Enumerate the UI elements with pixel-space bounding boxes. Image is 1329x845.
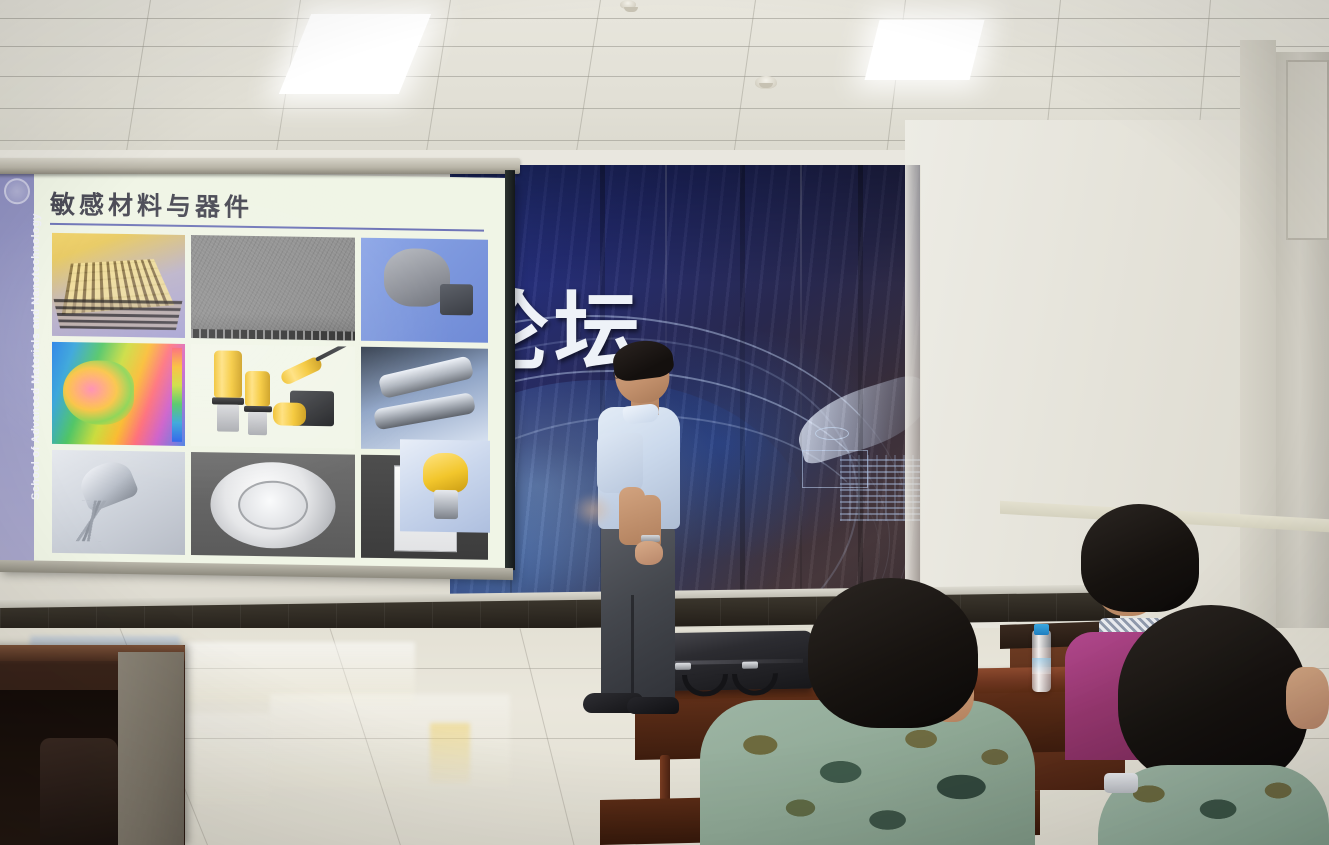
presenter-hand: [635, 541, 663, 565]
sensor-cable: [315, 344, 352, 362]
presenter-sleeve: [597, 433, 643, 493]
audience-hair: [1081, 504, 1199, 612]
ceiling-light-right: [865, 20, 985, 80]
banner-shadow: [450, 165, 920, 285]
slide-image-smoke-detector: [191, 452, 356, 557]
ceiling-grid-line: [123, 0, 151, 173]
slide-image-sem: [191, 235, 356, 340]
presenter-leg-seam: [631, 595, 634, 705]
briefcase-clasp: [742, 662, 758, 669]
audience-dark-hair: [1118, 605, 1329, 845]
ceiling-tile-line: [0, 76, 1329, 77]
ceiling-grid-line: [573, 0, 601, 173]
ceiling-tile-line: [0, 18, 1329, 19]
sensor-cylinder: [214, 350, 242, 398]
ceiling-smoke-detector-icon: [620, 0, 636, 9]
presenter-shoe: [627, 697, 679, 714]
slide-image-connectors: [361, 346, 488, 451]
sensor-base: [217, 405, 238, 432]
slide-image-gas-detector: [400, 439, 490, 532]
presenter-hand-motion-blur: [573, 493, 613, 527]
presenter: [575, 345, 700, 755]
floor-reflection: [430, 723, 470, 783]
podium-side-panel: [118, 652, 184, 845]
audience-bracelet: [1104, 773, 1138, 793]
ceiling-tile-line: [0, 108, 1329, 109]
slide-sidebar-label: School of Advanced Materials and Nanotec…: [30, 207, 42, 507]
ceiling-smoke-detector-icon: [755, 76, 777, 89]
sensor-base: [248, 412, 266, 435]
banner-ellipse-graphic: [815, 427, 849, 440]
slide-image-yellow-sensors: [191, 344, 356, 449]
floor-reflection: [270, 694, 510, 789]
slide-title-rule: [50, 223, 484, 232]
audience-camo-hair: [808, 578, 978, 728]
slide-image-thermal: [52, 342, 185, 447]
slide-title: 敏感材料与器件: [50, 185, 253, 224]
projection-screen-housing: [0, 158, 520, 174]
water-bottle-label: [1032, 658, 1051, 674]
ceiling-tile-line: [0, 46, 1329, 47]
door-panel[interactable]: [1286, 60, 1329, 240]
slide-sidebar: School of Advanced Materials and Nanotec…: [0, 170, 34, 571]
sensor-cylinder: [245, 371, 270, 406]
lecture-hall-scene: 论坛 School of Advanced Materials and Nano…: [0, 0, 1329, 845]
ceiling-grid-line: [423, 0, 451, 173]
audience-face: [1286, 667, 1329, 729]
sensor-cylinder: [273, 402, 306, 425]
slide-image-blue-sensor: [361, 238, 488, 343]
audience-hair: [1118, 605, 1308, 787]
slide-image-transistor: [52, 450, 185, 555]
slide-image-nanopillars: [52, 233, 185, 338]
university-seal-icon: [4, 178, 30, 204]
ceiling-grid-line: [731, 0, 756, 173]
podium-chair: [40, 738, 118, 845]
water-bottle-cap: [1034, 624, 1049, 635]
projection-screen-edge: [505, 170, 515, 570]
ceiling-light-left: [279, 14, 431, 94]
banner-edge: [905, 165, 921, 620]
floor-reflection: [185, 642, 415, 702]
